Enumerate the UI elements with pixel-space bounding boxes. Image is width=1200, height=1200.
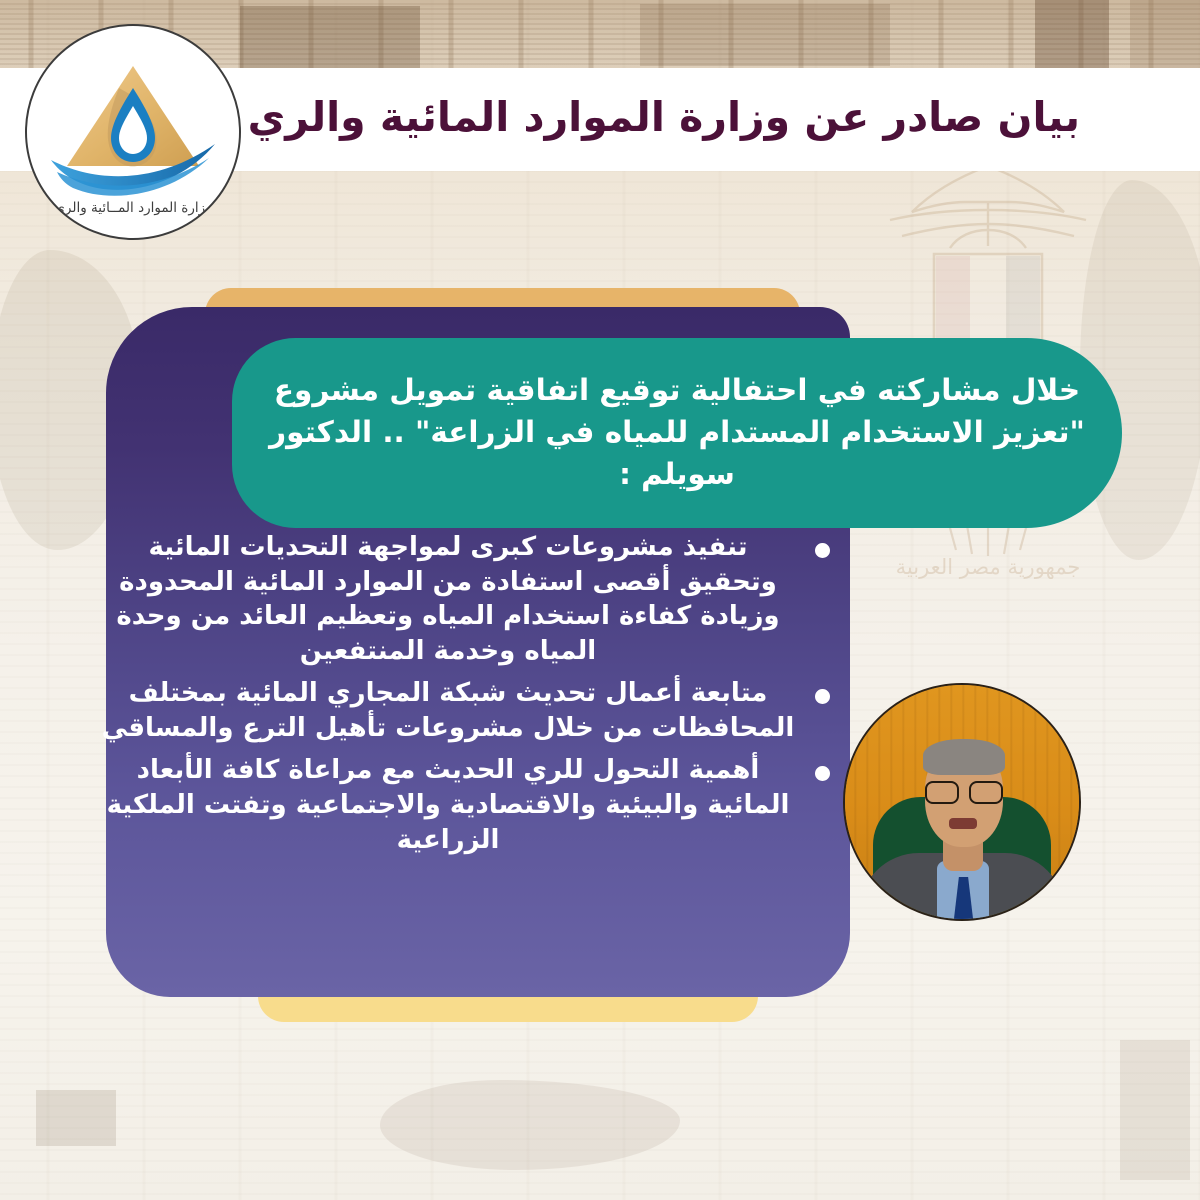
portrait-hair [923,739,1005,775]
list-item: أهمية التحول للري الحديث مع مراعاة كافة … [80,753,850,857]
list-item: متابعة أعمال تحديث شبكة المجاري المائية … [80,676,850,745]
page-title: بيان صادر عن وزارة الموارد المائية والري [200,92,1080,143]
announcement-poster: جمهورية مصر العربية بيان صادر عن وزارة ا… [0,0,1200,1200]
ministry-logo-caption: وزارة الموارد المــائية والرى [27,200,239,216]
portrait-mouth [949,818,977,829]
texture-patch-bottomright [1120,1040,1190,1180]
bullet-text: تنفيذ مشروعات كبرى لمواجهة التحديات الما… [116,532,779,666]
bullet-dot-icon [815,543,830,558]
emblem-caption: جمهورية مصر العربية [896,555,1081,579]
texture-patch-a [240,6,420,70]
list-item: تنفيذ مشروعات كبرى لمواجهة التحديات الما… [80,530,850,668]
bullet-text: أهمية التحول للري الحديث مع مراعاة كافة … [107,755,790,854]
bullet-dot-icon [815,689,830,704]
portrait-glasses-icon [924,781,1004,800]
bullet-dot-icon [815,766,830,781]
texture-patch-b [640,4,890,66]
ministry-logo: وزارة الموارد المــائية والرى [25,24,241,240]
texture-patch-bottomleft [36,1090,116,1146]
headline-text: خلال مشاركته في احتفالية توقيع اتفاقية ت… [237,370,1117,496]
bullet-text: متابعة أعمال تحديث شبكة المجاري المائية … [102,678,795,743]
texture-patch-d [1130,0,1200,72]
minister-portrait [843,683,1081,921]
headline-banner: خلال مشاركته في احتفالية توقيع اتفاقية ت… [232,338,1122,528]
texture-blotch-bottom [380,1080,680,1170]
statement-bullet-list: تنفيذ مشروعات كبرى لمواجهة التحديات الما… [106,530,850,865]
texture-patch-c [1035,0,1109,74]
